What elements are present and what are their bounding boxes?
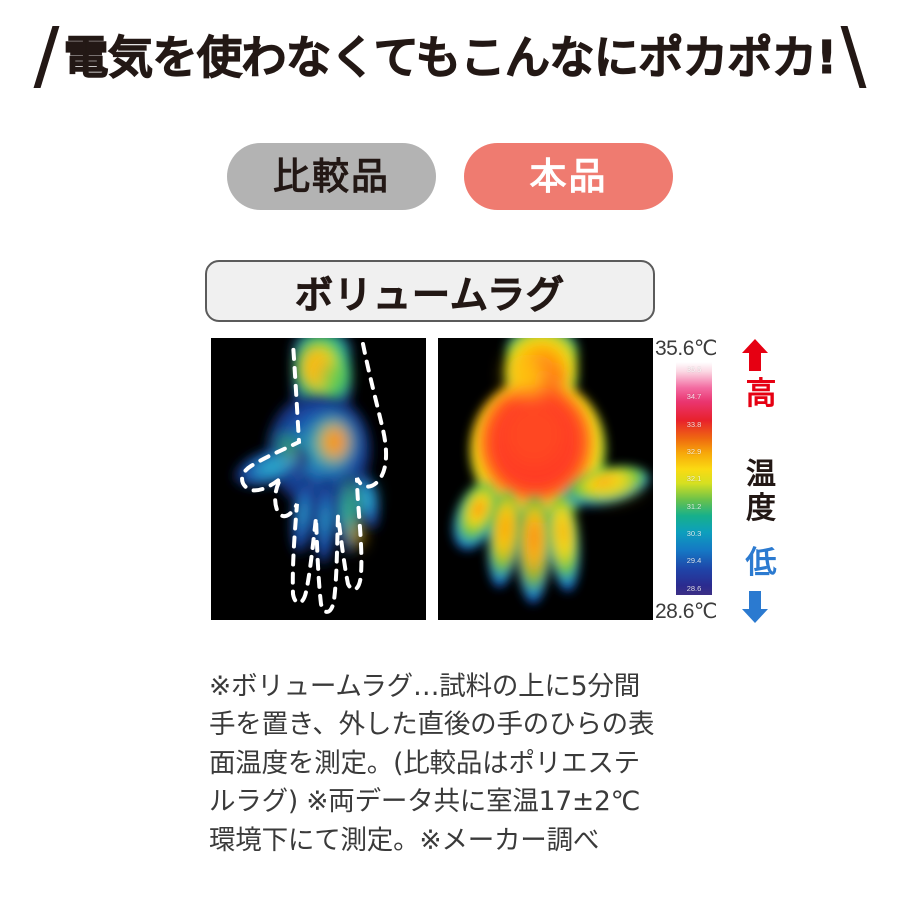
scale-tick: 32.9 [676,448,712,456]
headline-text: 電気を使わなくてもこんなにポカポカ! [64,35,837,80]
sample-name-label: ボリュームラグ [295,264,565,319]
down-arrow-icon [741,590,769,624]
scale-tick: 34.7 [676,393,712,401]
thermal-product-graphic [438,338,653,620]
scale-min-label: 28.6℃ [655,599,727,624]
scale-tick: 35.5 [676,366,712,374]
footnote-line: ルラグ) ※両データ共に室温17±2℃ [209,783,769,821]
headline: 電気を使わなくてもこんなにポカポカ! [0,26,900,88]
pill-comparison-label: 比較品 [273,158,390,195]
thermal-image-pair [211,338,653,620]
scale-unit-label: 温度 [733,458,789,525]
scale-tick: 32.1 [676,475,712,483]
pill-comparison[interactable]: 比較品 [227,143,436,210]
sample-name-bar: ボリュームラグ [205,260,655,322]
footnote-line: ※ボリュームラグ…試料の上に5分間 [209,668,769,706]
scale-max-label: 35.6℃ [655,336,727,361]
temperature-scale: 35.6℃ 35.5 34.7 33.8 32.9 32.1 31.2 30.3… [655,336,790,624]
scale-tick: 30.3 [676,530,712,538]
scale-high-label: 高 [733,379,789,410]
headline-slash-right-icon [841,26,867,88]
comparison-legend: 比較品 本品 [0,143,900,210]
thermal-image-comparison [211,338,426,620]
scale-ticks: 35.5 34.7 33.8 32.9 32.1 31.2 30.3 29.4 … [676,362,712,595]
thermal-image-product [438,338,653,620]
scale-tick: 29.4 [676,557,712,565]
scale-legend-column: 高 温度 低 [733,336,789,624]
footnote-line: 手を置き、外した直後の手のひらの表 [209,706,769,744]
scale-colorbar: 35.5 34.7 33.8 32.9 32.1 31.2 30.3 29.4 … [676,362,712,595]
headline-slash-left-icon [33,26,59,88]
scale-low-label: 低 [733,548,789,579]
pill-product-label: 本品 [530,158,608,195]
up-arrow-icon [741,338,769,372]
scale-tick: 33.8 [676,421,712,429]
scale-tick: 28.6 [676,585,712,593]
pill-product[interactable]: 本品 [464,143,673,210]
footnote-line: 環境下にて測定。※メーカー調べ [209,822,769,860]
footnote: ※ボリュームラグ…試料の上に5分間 手を置き、外した直後の手のひらの表 面温度を… [209,668,769,860]
scale-tick: 31.2 [676,503,712,511]
thermal-comparison-graphic [211,338,426,620]
footnote-line: 面温度を測定。(比較品はポリエステ [209,745,769,783]
